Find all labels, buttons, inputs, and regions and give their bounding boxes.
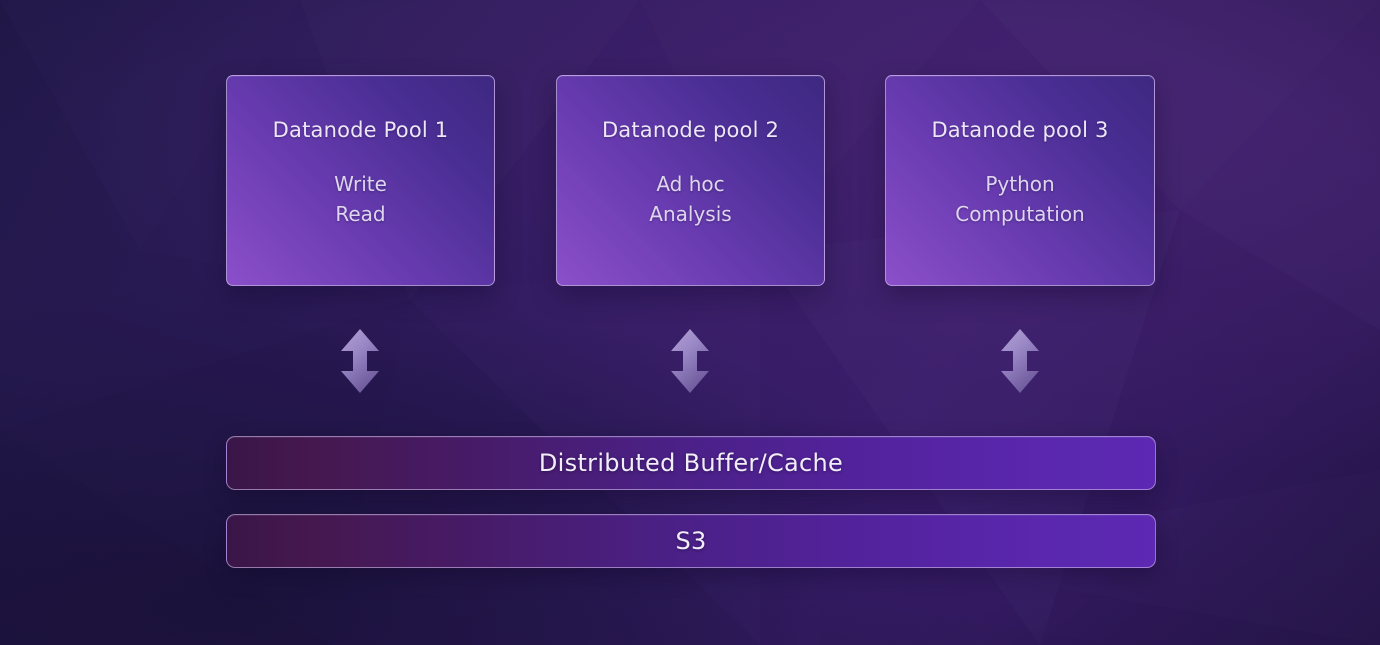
- pool-card-role-line: Read: [334, 199, 387, 229]
- layer-bar-label: Distributed Buffer/Cache: [539, 449, 843, 477]
- layer-bar-label: S3: [675, 527, 706, 555]
- distributed-buffer-cache-bar[interactable]: Distributed Buffer/Cache: [226, 436, 1156, 490]
- pool-card-role-line: Write: [334, 169, 387, 199]
- pool-card-title: Datanode Pool 1: [273, 120, 449, 141]
- datanode-pool-card-1[interactable]: Datanode Pool 1 Write Read: [226, 75, 495, 286]
- datanode-pool-card-2[interactable]: Datanode pool 2 Ad hoc Analysis: [556, 75, 825, 286]
- pool-card-title: Datanode pool 2: [602, 120, 779, 141]
- pool-card-role-line: Computation: [955, 199, 1084, 229]
- pool-card-title: Datanode pool 3: [931, 120, 1108, 141]
- datanode-pool-card-3[interactable]: Datanode pool 3 Python Computation: [885, 75, 1155, 286]
- pool-card-role-line: Ad hoc: [649, 169, 731, 199]
- pool-card-roles: Python Computation: [955, 169, 1084, 229]
- pool-card-role-line: Analysis: [649, 199, 731, 229]
- pool-card-role-line: Python: [955, 169, 1084, 199]
- pool-card-roles: Ad hoc Analysis: [649, 169, 731, 229]
- double-arrow-vertical-icon: [340, 329, 380, 393]
- pool-card-roles: Write Read: [334, 169, 387, 229]
- s3-storage-bar[interactable]: S3: [226, 514, 1156, 568]
- double-arrow-vertical-icon: [1000, 329, 1040, 393]
- double-arrow-vertical-icon: [670, 329, 710, 393]
- diagram-canvas: Datanode Pool 1 Write Read Datanode pool…: [0, 0, 1380, 645]
